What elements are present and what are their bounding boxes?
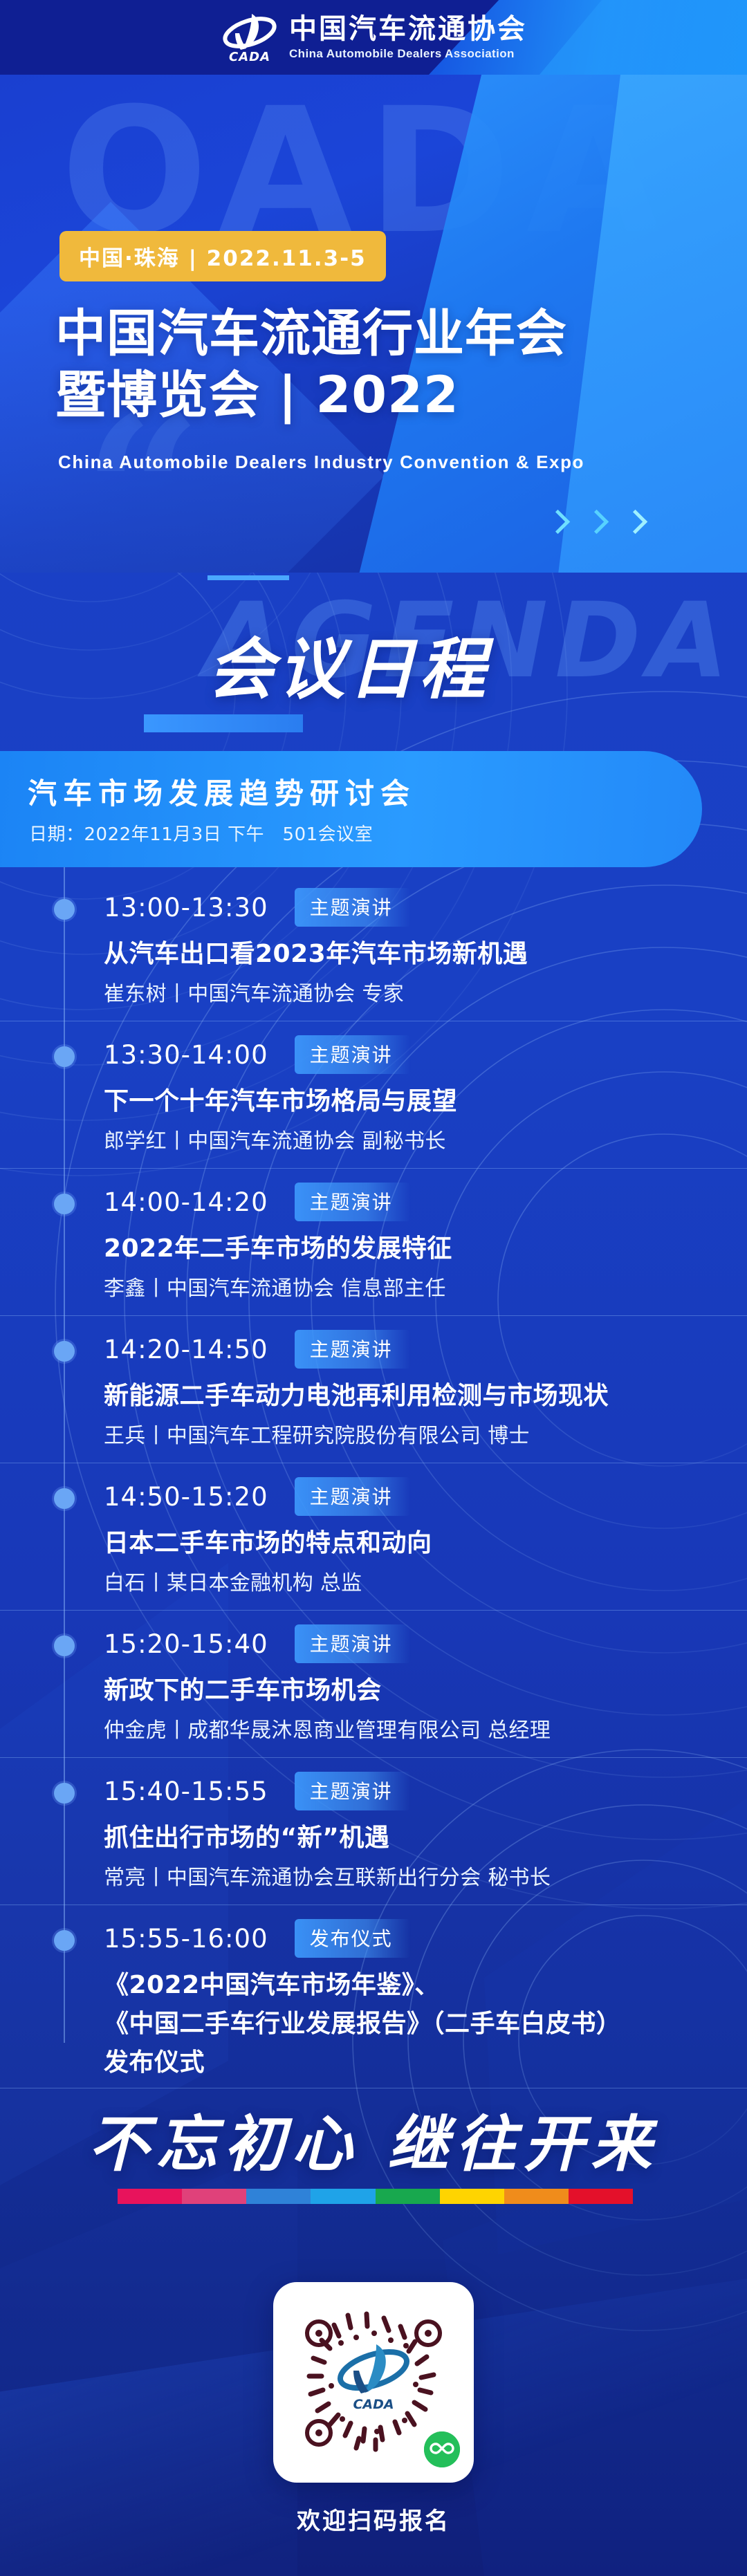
agenda-item-divider bbox=[0, 1315, 747, 1316]
agenda-item-speaker: 李鑫丨中国汽车流通协会 信息部主任 bbox=[104, 1271, 446, 1301]
agenda-item-time: 13:00-13:30 bbox=[104, 893, 268, 923]
agenda-timeline: 13:00-13:30 主题演讲 从汽车出口看2023年汽车市场新机遇 崔东树丨… bbox=[0, 867, 747, 2057]
event-date-text: 中国·珠海 | 2022.11.3-5 bbox=[79, 241, 367, 272]
agenda-item-tag: 主题演讲 bbox=[295, 1477, 411, 1516]
logo-chinese-name: 中国汽车流通协会 bbox=[289, 15, 527, 43]
wechat-miniprogram-icon bbox=[424, 2431, 460, 2467]
qr-code[interactable]: CADA bbox=[273, 2282, 474, 2483]
agenda-item-speaker: 郎学红丨中国汽车流通协会 副秘书长 bbox=[104, 1124, 446, 1154]
timeline-dot-icon bbox=[54, 1046, 75, 1067]
agenda-item-topic-line1: 《2022中国汽车市场年鉴》、 bbox=[104, 1965, 440, 2001]
session-date-room: 日期：2022年11月3日 下午 501会议室 bbox=[29, 820, 373, 846]
rainbow-segment bbox=[311, 2189, 375, 2204]
decorative-quote-icon: “ bbox=[83, 420, 203, 566]
rainbow-segment bbox=[569, 2189, 633, 2204]
timeline-dot-icon bbox=[54, 1783, 75, 1804]
chevron-right-icon bbox=[548, 510, 566, 542]
agenda-item-time: 14:00-14:20 bbox=[104, 1187, 268, 1217]
agenda-item-header: 14:00-14:20 主题演讲 bbox=[104, 1183, 411, 1221]
agenda-section-header: AGENDA 会议日程 bbox=[0, 573, 747, 739]
agenda-item-tag: 主题演讲 bbox=[295, 1183, 411, 1221]
cada-emblem-icon: CADA bbox=[220, 10, 279, 65]
agenda-item-tag: 主题演讲 bbox=[295, 1035, 411, 1074]
agenda-item-time: 14:20-14:50 bbox=[104, 1335, 268, 1364]
agenda-item-time: 15:40-15:55 bbox=[104, 1777, 268, 1806]
agenda-item-speaker: 常亮丨中国汽车流通协会互联新出行分会 秘书长 bbox=[104, 1860, 551, 1891]
cada-logo[interactable]: CADA 中国汽车流通协会 China Automobile Dealers A… bbox=[220, 10, 527, 65]
timeline-dot-icon bbox=[54, 1341, 75, 1362]
agenda-item-tag: 主题演讲 bbox=[295, 888, 411, 927]
event-date-badge: 中国·珠海 | 2022.11.3-5 bbox=[59, 231, 386, 281]
agenda-item-speaker: 仲金虎丨成都华晟沐恩商业管理有限公司 总经理 bbox=[104, 1713, 551, 1743]
agenda-item-time: 15:55-16:00 bbox=[104, 1924, 268, 1954]
agenda-item-time: 15:20-15:40 bbox=[104, 1629, 268, 1659]
agenda-item-divider bbox=[0, 1463, 747, 1463]
event-title-line1: 中国汽车流通行业年会 bbox=[55, 303, 567, 364]
rainbow-segment bbox=[182, 2189, 246, 2204]
agenda-item-speaker: 王兵丨中国汽车工程研究院股份有限公司 博士 bbox=[104, 1418, 530, 1449]
agenda-item-topic: 新能源二手车动力电池再利用检测与市场现状 bbox=[104, 1375, 609, 1411]
agenda-item-speaker: 崔东树丨中国汽车流通协会 专家 bbox=[104, 976, 404, 1007]
agenda-item-header: 13:30-14:00 主题演讲 bbox=[104, 1035, 411, 1074]
svg-text:CADA: CADA bbox=[229, 50, 270, 64]
agenda-item-time: 14:50-15:20 bbox=[104, 1482, 268, 1512]
agenda-item-topic: 日本二手车市场的特点和动向 bbox=[104, 1523, 432, 1559]
logo-english-name: China Automobile Dealers Association bbox=[289, 48, 527, 59]
rainbow-segment bbox=[440, 2189, 504, 2204]
session-header-bar: 汽车市场发展趋势研讨会 日期：2022年11月3日 下午 501会议室 bbox=[0, 751, 702, 867]
chevron-right-icon bbox=[587, 510, 605, 542]
slogan-section: 不忘初心 继往开来 bbox=[0, 2095, 747, 2254]
rainbow-segment bbox=[246, 2189, 311, 2204]
agenda-item-divider bbox=[0, 2088, 747, 2088]
rainbow-segment bbox=[118, 2189, 182, 2204]
agenda-item-header: 14:20-14:50 主题演讲 bbox=[104, 1330, 411, 1369]
timeline-dot-icon bbox=[54, 1488, 75, 1509]
agenda-item-tag: 发布仪式 bbox=[295, 1919, 411, 1958]
site-header: CADA 中国汽车流通协会 China Automobile Dealers A… bbox=[0, 0, 747, 75]
timeline-dot-icon bbox=[54, 899, 75, 920]
agenda-item-header: 15:40-15:55 主题演讲 bbox=[104, 1772, 411, 1810]
agenda-item-tag: 主题演讲 bbox=[295, 1772, 411, 1810]
agenda-item-tag: 主题演讲 bbox=[295, 1330, 411, 1369]
agenda-item-divider bbox=[0, 1610, 747, 1611]
agenda-item-topic: 从汽车出口看2023年汽车市场新机遇 bbox=[104, 934, 528, 970]
timeline-dot-icon bbox=[54, 1930, 75, 1951]
agenda-item-header: 15:55-16:00 发布仪式 bbox=[104, 1919, 411, 1958]
session-title: 汽车市场发展趋势研讨会 bbox=[28, 770, 416, 813]
event-subtitle-english: China Automobile Dealers Industry Conven… bbox=[58, 452, 584, 473]
agenda-item-header: 14:50-15:20 主题演讲 bbox=[104, 1477, 411, 1516]
event-title: 中国汽车流通行业年会 暨博览会 | 2022 bbox=[55, 303, 567, 426]
hero-banner: OADA “ 中国·珠海 | 2022.11.3-5 中国汽车流通行业年会 暨博… bbox=[0, 75, 747, 573]
poster-root: CADA 中国汽车流通协会 China Automobile Dealers A… bbox=[0, 0, 747, 2576]
chevron-group bbox=[548, 510, 643, 542]
agenda-item-topic-line3: 发布仪式 bbox=[104, 2042, 205, 2078]
qr-caption: 欢迎扫码报名 bbox=[0, 2502, 747, 2536]
registration-qr-section: CADA 欢迎扫码报名 bbox=[0, 2268, 747, 2576]
svg-text:CADA: CADA bbox=[353, 2397, 394, 2412]
rainbow-bar bbox=[118, 2189, 633, 2204]
agenda-section-title: 会议日程 bbox=[207, 615, 490, 712]
agenda-item-topic-line2: 《中国二手车行业发展报告》（二手车白皮书） bbox=[104, 2003, 622, 2039]
agenda-item-topic: 抓住出行市场的“新”机遇 bbox=[104, 1817, 389, 1853]
agenda-item-tag: 主题演讲 bbox=[295, 1624, 411, 1663]
agenda-item-divider bbox=[0, 1168, 747, 1169]
rainbow-segment bbox=[504, 2189, 569, 2204]
agenda-item-speaker: 白石丨某日本金融机构 总监 bbox=[104, 1566, 362, 1596]
agenda-item-divider bbox=[0, 1021, 747, 1021]
timeline-dot-icon bbox=[54, 1636, 75, 1656]
logo-text-block: 中国汽车流通协会 China Automobile Dealers Associ… bbox=[289, 15, 527, 59]
agenda-item-topic: 2022年二手车市场的发展特征 bbox=[104, 1228, 452, 1264]
event-title-line2: 暨博览会 | 2022 bbox=[55, 364, 567, 426]
agenda-item-topic: 新政下的二手车市场机会 bbox=[104, 1670, 382, 1706]
slogan-text: 不忘初心 继往开来 bbox=[0, 2095, 747, 2183]
timeline-dot-icon bbox=[54, 1194, 75, 1214]
agenda-item-header: 15:20-15:40 主题演讲 bbox=[104, 1624, 411, 1663]
agenda-item-topic: 下一个十年汽车市场格局与展望 bbox=[104, 1081, 457, 1117]
agenda-item-time: 13:30-14:00 bbox=[104, 1040, 268, 1070]
chevron-right-icon bbox=[625, 510, 643, 542]
agenda-item-divider bbox=[0, 1905, 747, 1905]
qr-center-cada-icon: CADA bbox=[333, 2339, 414, 2413]
timeline-vertical-line bbox=[64, 867, 65, 2043]
agenda-item-divider bbox=[0, 1757, 747, 1758]
rainbow-segment bbox=[376, 2189, 440, 2204]
agenda-underline-bar bbox=[144, 714, 303, 732]
agenda-item-header: 13:00-13:30 主题演讲 bbox=[104, 888, 411, 927]
